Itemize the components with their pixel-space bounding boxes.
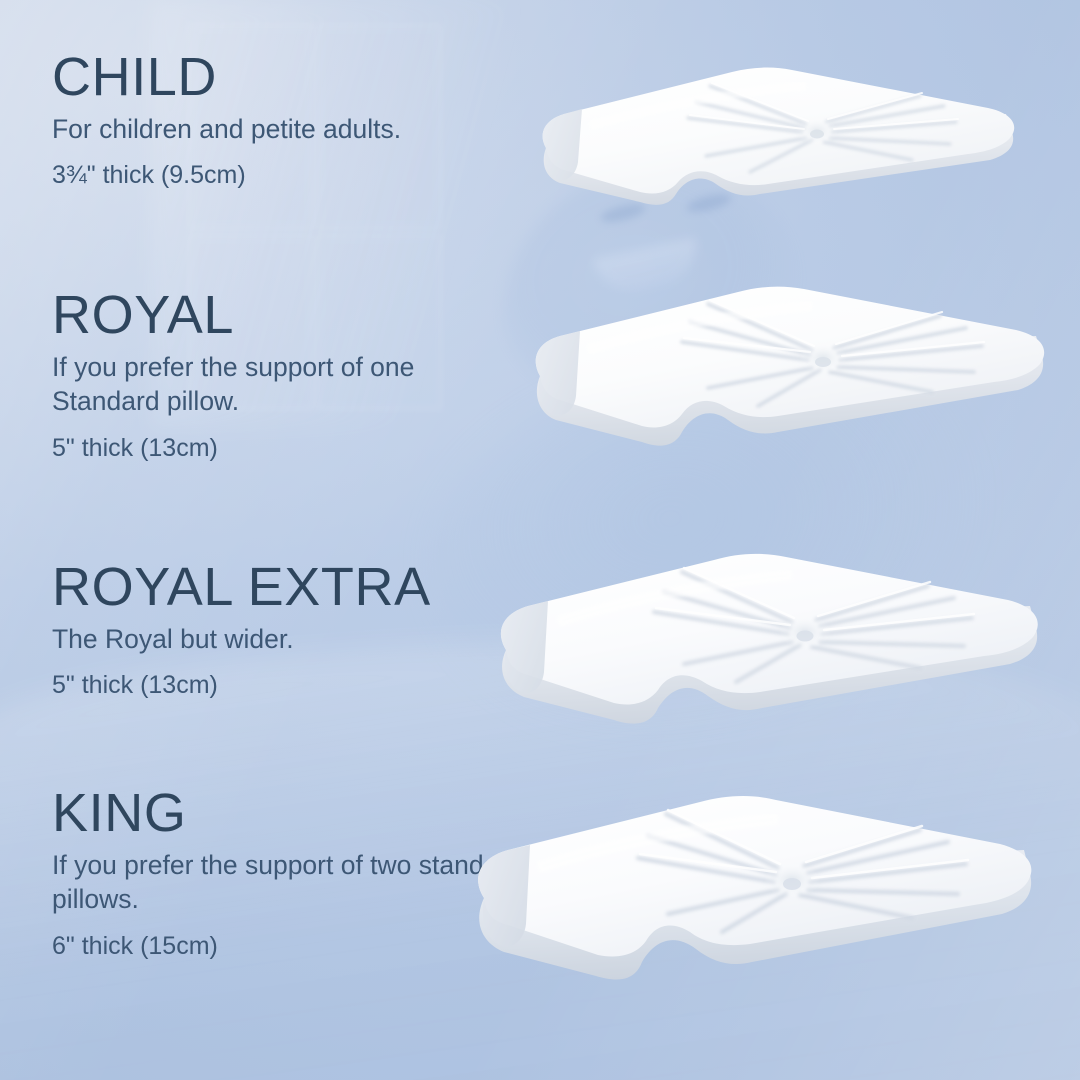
size-thickness-royal: 5" thick (13cm) [52,433,522,464]
pillow-image-child [520,52,1040,257]
pillow-image-king [452,782,1060,1027]
size-title-royal: ROYAL [52,288,522,342]
size-thickness-child: 3¾" thick (9.5cm) [52,160,401,191]
size-block-royal: ROYAL If you prefer the support of one S… [52,288,522,464]
size-thickness-royal-extra: 5" thick (13cm) [52,670,431,701]
infographic-canvas: CHILD For children and petite adults. 3¾… [0,0,1080,1080]
size-block-child: CHILD For children and petite adults. 3¾… [52,50,401,192]
size-description-royal: If you prefer the support of one Standar… [52,350,522,419]
size-title-child: CHILD [52,50,401,104]
size-title-royal-extra: ROYAL EXTRA [52,560,431,614]
size-description-child: For children and petite adults. [52,112,401,146]
size-block-royal-extra: ROYAL EXTRA The Royal but wider. 5" thic… [52,560,431,702]
size-description-royal-extra: The Royal but wider. [52,622,431,656]
pillow-image-royal [512,272,1072,497]
pillow-image-royal-extra [476,540,1066,775]
